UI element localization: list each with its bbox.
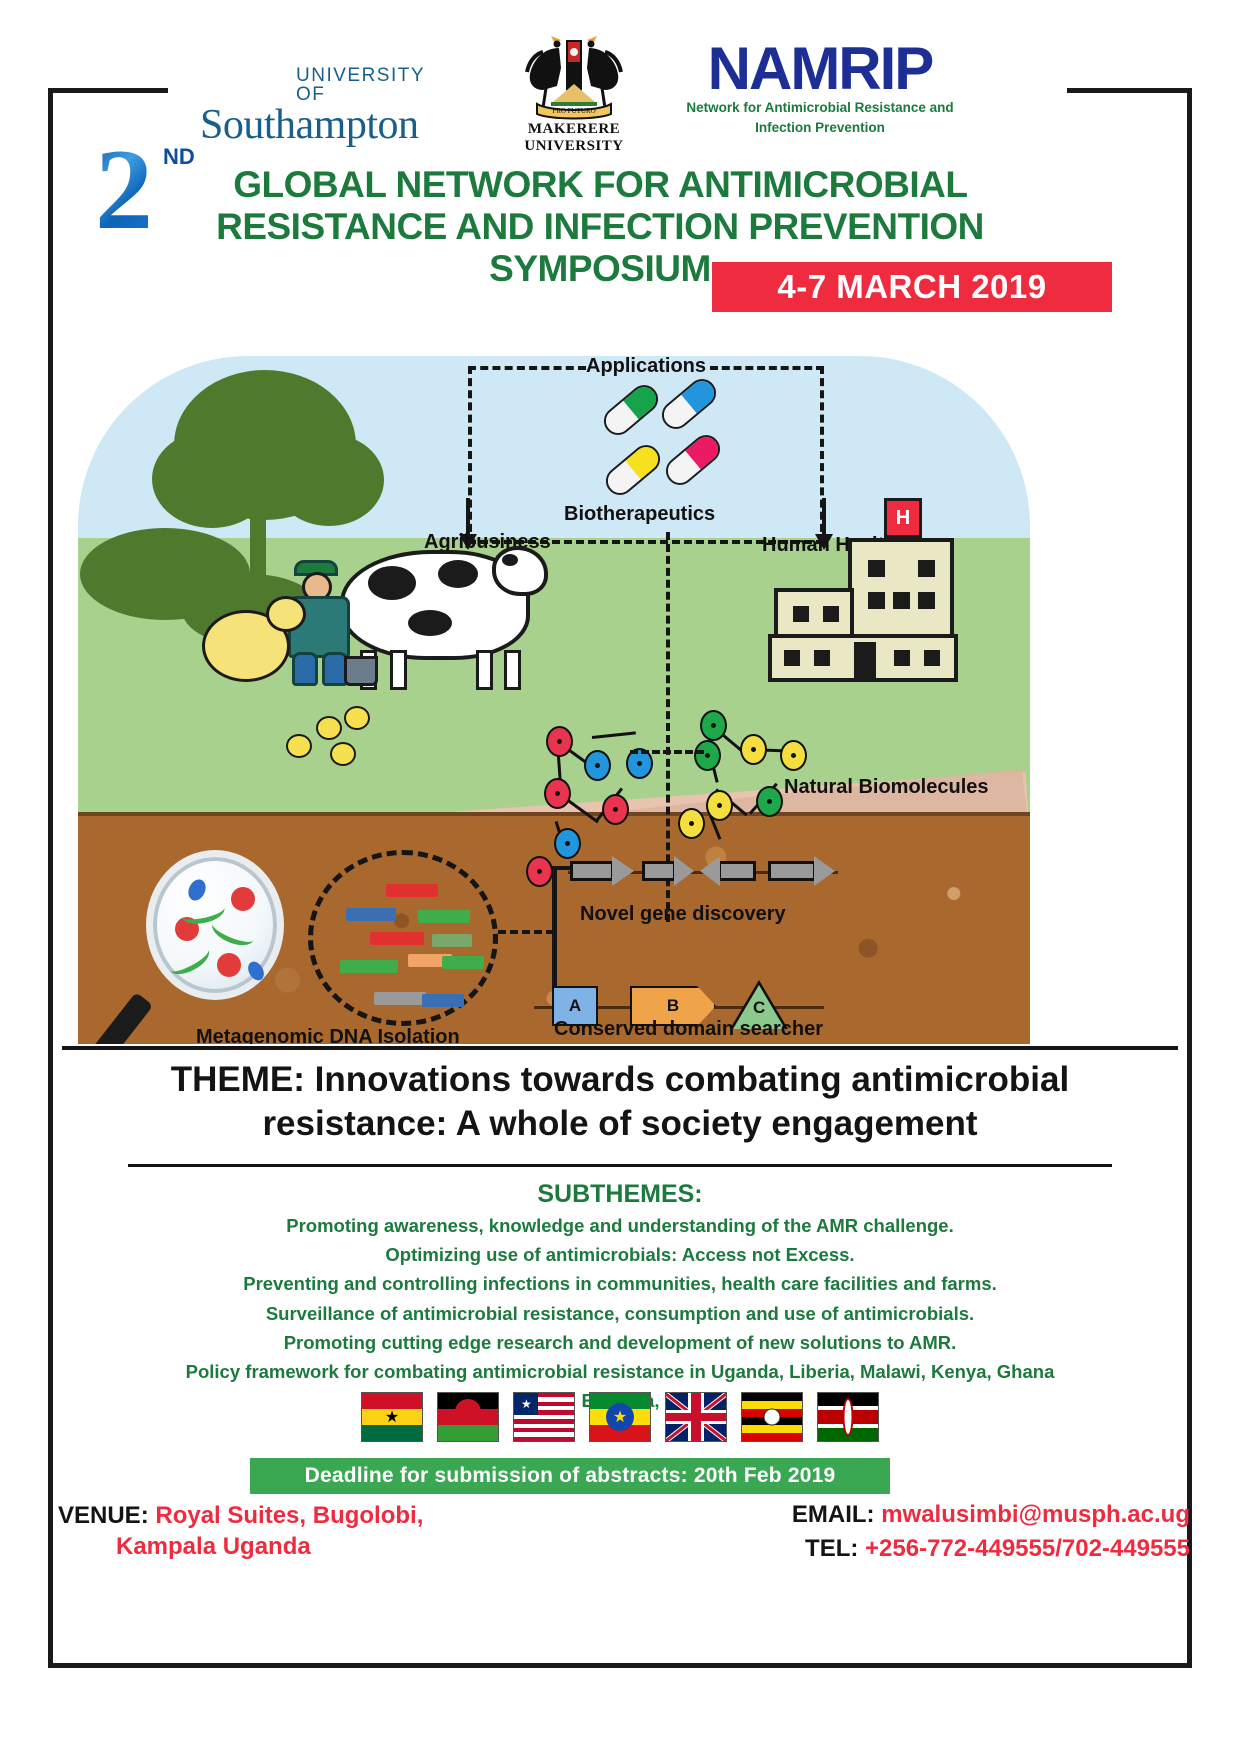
germ-worm-2 bbox=[208, 914, 257, 951]
mol-node-red-3 bbox=[602, 794, 629, 825]
contact-block: EMAIL: mwalusimbi@musph.ac.ug TEL: +256-… bbox=[600, 1498, 1190, 1565]
gene-arrow-forward-1 bbox=[570, 856, 632, 886]
mol-node-red-1 bbox=[546, 726, 573, 757]
event-dates-banner: 4-7 MARCH 2019 bbox=[712, 262, 1112, 312]
subtheme-item: Surveillance of antimicrobial resistance… bbox=[70, 1299, 1170, 1328]
mol-node-yellow-3 bbox=[706, 790, 733, 821]
logo-bar: UNIVERSITY OF Southampton bbox=[0, 18, 1240, 136]
hospital-window-8 bbox=[784, 650, 800, 666]
hospital-window-6 bbox=[793, 606, 809, 622]
dna-to-gene-dashed bbox=[498, 930, 554, 934]
label-applications: Applications bbox=[586, 355, 706, 378]
makerere-crest-icon: PRO FUTURO bbox=[499, 28, 649, 120]
poster-root: UNIVERSITY OF Southampton bbox=[0, 0, 1240, 1754]
namrip-logo: NAMRIP Network for Antimicrobial Resista… bbox=[680, 40, 960, 137]
germ-worm-3 bbox=[164, 940, 213, 980]
label-metagenomic-dna-isolation: Metagenomic DNA Isolation bbox=[196, 1026, 460, 1044]
mol-node-yellow-2 bbox=[780, 740, 807, 771]
label-biotherapeutics: Biotherapeutics bbox=[564, 503, 715, 526]
subthemes-list: Promoting awareness, knowledge and under… bbox=[70, 1211, 1170, 1416]
title-line-2: RESISTANCE AND INFECTION PREVENTION bbox=[216, 206, 984, 247]
mol-node-blue-1 bbox=[584, 750, 611, 781]
mol-node-red-2 bbox=[544, 778, 571, 809]
label-conserved-domain-searcher: Conserved domain searcher bbox=[554, 1018, 823, 1041]
magnifier-lens-icon bbox=[146, 850, 284, 1000]
venue-label: VENUE: bbox=[58, 1502, 149, 1529]
frame-bottom-edge bbox=[48, 1663, 1192, 1668]
applications-box-top-left bbox=[468, 366, 586, 370]
cow-spot-2 bbox=[438, 560, 478, 588]
venue-block: VENUE: Royal Suites, Bugolobi, Kampala U… bbox=[58, 1500, 578, 1562]
molecule-link-dashed bbox=[630, 750, 704, 754]
tree-trunk-icon bbox=[250, 498, 266, 580]
mol-node-yellow-4 bbox=[678, 808, 705, 839]
hospital-window-11 bbox=[924, 650, 940, 666]
namrip-subtitle-line1: Network for Antimicrobial Resistance and bbox=[680, 100, 960, 117]
subtheme-item: Policy framework for combating antimicro… bbox=[70, 1357, 1170, 1386]
venue-line-1: Royal Suites, Bugolobi, bbox=[155, 1502, 423, 1529]
dna-fragment-3 bbox=[418, 910, 470, 923]
human-health-arrow-stem bbox=[822, 498, 826, 536]
farmer-leg-1 bbox=[292, 652, 318, 686]
dna-fragment-8 bbox=[340, 960, 398, 973]
hospital-sign-icon: H bbox=[884, 498, 922, 538]
hospital-window-3 bbox=[868, 592, 885, 609]
subtheme-item: Optimizing use of antimicrobials: Access… bbox=[70, 1240, 1170, 1269]
mol-node-green-2 bbox=[694, 740, 721, 771]
gene-bracket-vertical bbox=[552, 866, 557, 1006]
makerere-university-logo: PRO FUTURO MAKERERE UNIVERSITY bbox=[498, 28, 650, 155]
cow-eye bbox=[502, 554, 518, 566]
chick-icon-4 bbox=[286, 734, 312, 758]
germ-red-3 bbox=[217, 953, 241, 977]
label-natural-biomolecules: Natural Biomolecules bbox=[784, 776, 989, 799]
mol-node-red-4 bbox=[526, 856, 553, 887]
hospital-window-4 bbox=[893, 592, 910, 609]
university-of-southampton-logo: UNIVERSITY OF Southampton bbox=[200, 66, 460, 146]
mol-node-blue-3 bbox=[554, 828, 581, 859]
title-line-1: GLOBAL NETWORK FOR ANTIMICROBIAL bbox=[233, 164, 967, 205]
subthemes-heading: SUBTHEMES: bbox=[0, 1180, 1240, 1209]
chicken-head-icon bbox=[266, 596, 306, 632]
email-value[interactable]: mwalusimbi@musph.ac.ug bbox=[881, 1501, 1190, 1528]
tel-label: TEL: bbox=[805, 1535, 858, 1562]
subtheme-item: Promoting cutting edge research and deve… bbox=[70, 1328, 1170, 1357]
subtheme-item: Promoting awareness, knowledge and under… bbox=[70, 1211, 1170, 1240]
theme-rule-top bbox=[62, 1046, 1178, 1050]
namrip-acronym: NAMRIP bbox=[680, 40, 960, 97]
chick-icon-1 bbox=[316, 716, 342, 740]
concept-illustration: Applications Biotherapeutics Agribusines… bbox=[78, 338, 1030, 1044]
dna-fragment-1 bbox=[386, 884, 438, 897]
southampton-logo-line1: UNIVERSITY OF bbox=[200, 66, 460, 104]
ordinal-number: 2 bbox=[95, 132, 153, 248]
namrip-subtitle-line2: Infection Prevention bbox=[680, 120, 960, 137]
dna-fragment-9 bbox=[374, 992, 426, 1005]
germ-red-1 bbox=[231, 887, 255, 911]
milk-bucket-icon bbox=[344, 656, 378, 686]
hospital-window-5 bbox=[918, 592, 935, 609]
gene-arrow-forward-3 bbox=[768, 856, 836, 886]
flag-kenya bbox=[817, 1392, 879, 1442]
applications-box-top-right bbox=[710, 366, 824, 370]
flag-united-kingdom bbox=[665, 1392, 727, 1442]
venue-line-2: Kampala Uganda bbox=[116, 1533, 311, 1560]
hospital-window-9 bbox=[814, 650, 830, 666]
dna-fragment-2 bbox=[346, 908, 396, 921]
theme-text: THEME: Innovations towards combating ant… bbox=[62, 1058, 1178, 1146]
theme-line-1: THEME: Innovations towards combating ant… bbox=[171, 1060, 1069, 1099]
svg-text:PRO FUTURO: PRO FUTURO bbox=[552, 107, 595, 115]
email-label: EMAIL: bbox=[792, 1501, 875, 1528]
cow-spot-1 bbox=[368, 566, 416, 600]
dna-fragment-4 bbox=[370, 932, 424, 945]
mol-node-green-1 bbox=[700, 710, 727, 741]
hospital-window-10 bbox=[894, 650, 910, 666]
dna-fragment-5 bbox=[432, 934, 472, 947]
chick-icon-3 bbox=[330, 742, 356, 766]
flag-ghana: ★ bbox=[361, 1392, 423, 1442]
flag-uganda bbox=[741, 1392, 803, 1442]
hospital-door-1 bbox=[854, 642, 876, 680]
conserved-domain-c: C bbox=[753, 998, 765, 1018]
chick-icon-2 bbox=[344, 706, 370, 730]
theme-line-2: resistance: A whole of society engagemen… bbox=[62, 1102, 1178, 1146]
tel-value[interactable]: +256-772-449555/702-449555 bbox=[865, 1535, 1190, 1562]
hospital-window-7 bbox=[823, 606, 839, 622]
tree-canopy-right-icon bbox=[274, 434, 384, 526]
cow-leg-2 bbox=[390, 650, 407, 690]
flag-ethiopia: ★ bbox=[589, 1392, 651, 1442]
theme-rule-bottom bbox=[128, 1164, 1112, 1167]
mol-node-green-3 bbox=[756, 786, 783, 817]
hospital-window-1 bbox=[868, 560, 885, 577]
abstract-deadline-banner: Deadline for submission of abstracts: 20… bbox=[250, 1458, 890, 1494]
cow-spot-3 bbox=[408, 610, 452, 636]
cow-leg-3 bbox=[476, 650, 493, 690]
gene-arrow-reverse-1 bbox=[700, 856, 756, 886]
tel-row: TEL: +256-772-449555/702-449555 bbox=[600, 1532, 1190, 1566]
hospital-window-2 bbox=[918, 560, 935, 577]
email-row: EMAIL: mwalusimbi@musph.ac.ug bbox=[600, 1498, 1190, 1532]
participating-country-flags: ★ ★ ★ bbox=[0, 1392, 1240, 1446]
dna-fragment-7 bbox=[442, 956, 484, 969]
flag-liberia: ★ bbox=[513, 1392, 575, 1442]
cow-leg-4 bbox=[504, 650, 521, 690]
mol-node-yellow-1 bbox=[740, 734, 767, 765]
subtheme-item: Preventing and controlling infections in… bbox=[70, 1269, 1170, 1298]
label-novel-gene-discovery: Novel gene discovery bbox=[580, 903, 786, 926]
flag-malawi bbox=[437, 1392, 499, 1442]
dna-fragment-10 bbox=[422, 994, 464, 1007]
gene-arrow-forward-2 bbox=[642, 856, 694, 886]
